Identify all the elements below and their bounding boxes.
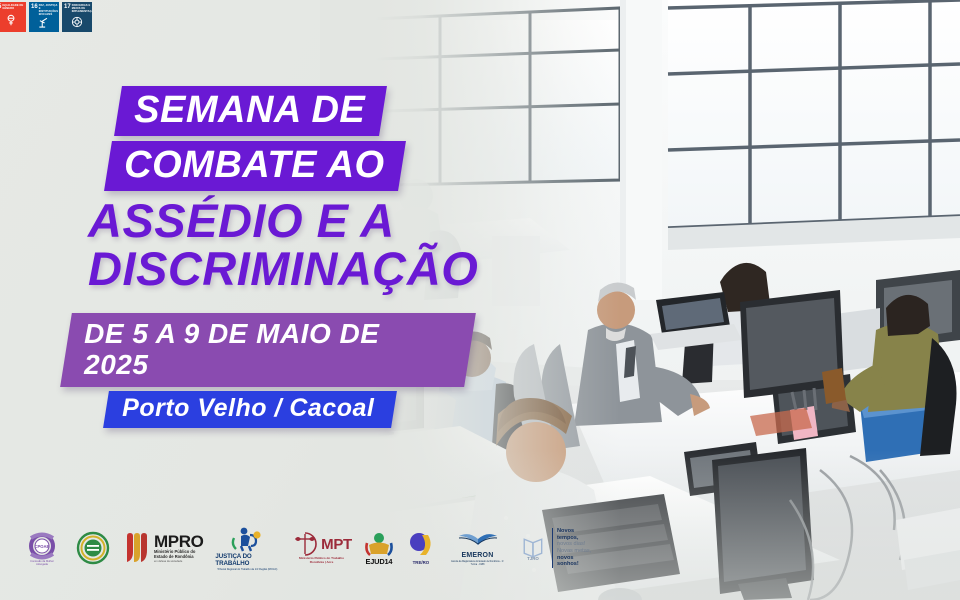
city-banner-text: Porto Velho / Cacoal: [122, 394, 374, 423]
event-poster: 5 IGUALDADE DE GÊNERO 16 PAZ, JUSTIÇA E …: [0, 0, 960, 600]
sdg-badges: 5 IGUALDADE DE GÊNERO 16 PAZ, JUSTIÇA E …: [0, 2, 92, 32]
sdg-16-number: 16: [31, 4, 38, 10]
logo-mpt-line2: Rondônia | Acre: [310, 561, 334, 565]
sdg-17-number: 17: [64, 4, 71, 10]
sdg-17-label: PARCERIAS E MEIOS DE IMPLEMENTAÇÃO: [72, 4, 92, 13]
sdg-badge-17: 17 PARCERIAS E MEIOS DE IMPLEMENTAÇÃO: [62, 2, 92, 32]
logo-mpro-line3: em defesa da sociedade: [154, 560, 203, 563]
headline-line-1-text: SEMANA DE: [134, 90, 365, 130]
date-banner: DE 5 A 9 DE MAIO DE 2025: [60, 313, 476, 387]
headline-line-1: SEMANA DE: [114, 86, 387, 136]
svg-text:Advogada: Advogada: [36, 562, 48, 566]
svg-text:CPOAB: CPOAB: [34, 544, 49, 549]
svg-text:TJRO: TJRO: [527, 556, 539, 561]
logo-tjro: TJRO Novos tempos, novos dias! Novas met…: [519, 528, 592, 568]
logo-emeron-caption: Escola da Magistratura do Estado de Rond…: [448, 561, 507, 567]
logo-mpt-acronym: MPT: [321, 537, 352, 552]
gavel-icon: [29, 16, 59, 32]
logo-oab-ro: [74, 528, 112, 568]
headline-line-2-text: COMBATE AO: [124, 145, 384, 185]
sdg-5-number: 5: [0, 4, 1, 10]
logo-justica-do-trabalho: JUSTIÇA DO TRABALHO Tribunal Regional do…: [215, 526, 279, 571]
headline-line-3: ASSÉDIO E A: [88, 197, 470, 245]
headline-line-4: DISCRIMINAÇÃO: [88, 245, 470, 293]
city-banner: Porto Velho / Cacoal: [103, 391, 397, 428]
tjro-slogan-line2: novos dias!: [557, 541, 585, 547]
logo-mpt: MPT Ministério Público do Trabalho Rondô…: [291, 531, 352, 565]
sdg-badge-5: 5 IGUALDADE DE GÊNERO: [0, 2, 26, 32]
logo-jt-acronym: JUSTIÇA DO TRABALHO: [215, 553, 279, 567]
logo-trero-acronym: TRE/RO: [413, 560, 430, 565]
logo-ejud14-acronym: EJUD14: [366, 558, 393, 566]
logo-mpro-acronym: MPRO: [154, 533, 203, 550]
tjro-slogan-line4: novos sonhos!: [557, 555, 579, 568]
sdg-16-label: PAZ, JUSTIÇA E INSTITUIÇÕES EFICAZES: [39, 4, 58, 16]
tjro-slogan: Novos tempos, novos dias! Novas metas, n…: [552, 528, 592, 568]
headline-block: SEMANA DE COMBATE AO ASSÉDIO E A DISCRIM…: [0, 86, 470, 428]
logo-emeron: EMERON Escola da Magistratura do Estado …: [448, 529, 507, 567]
logo-emeron-acronym: EMERON: [462, 552, 494, 560]
partner-logos: CPOAB Comissão da Mulher Advogada: [0, 518, 592, 578]
logo-mpro: MPRO Ministério Público do Estado de Ron…: [124, 528, 203, 568]
logo-jt-caption: Tribunal Regional do Trabalho da 14ª Reg…: [217, 568, 277, 571]
tjro-slogan-line3: Novas metas,: [557, 548, 591, 554]
partnership-circles-icon: [62, 13, 92, 32]
logo-trero: TRE/RO: [406, 531, 436, 565]
date-banner-text: DE 5 A 9 DE MAIO DE 2025: [84, 318, 448, 380]
tjro-slogan-line1: Novos tempos,: [557, 528, 578, 541]
sdg-badge-16: 16 PAZ, JUSTIÇA E INSTITUIÇÕES EFICAZES: [29, 2, 59, 32]
gender-equality-icon: [0, 10, 26, 32]
headline-line-2: COMBATE AO: [104, 141, 406, 191]
logo-ejud14: EJUD14: [364, 531, 394, 566]
logo-cpoab: CPOAB Comissão da Mulher Advogada: [22, 528, 62, 568]
